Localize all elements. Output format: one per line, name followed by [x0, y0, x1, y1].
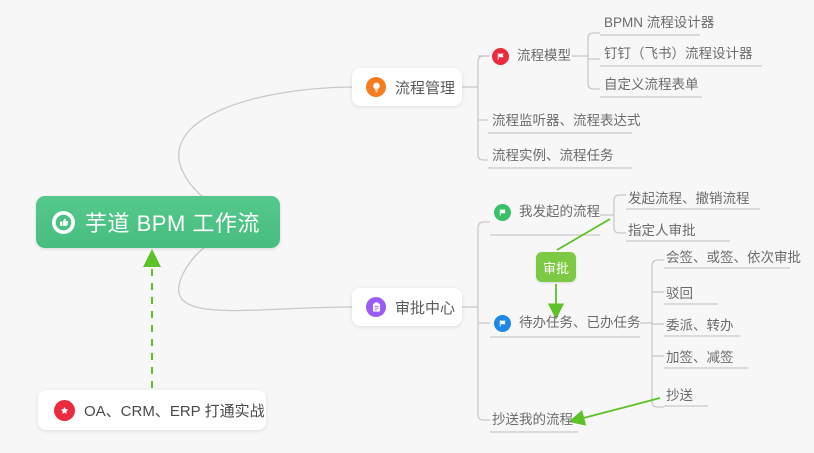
- leaf-add-remove-sign[interactable]: 加签、减签: [666, 347, 734, 369]
- root-node[interactable]: 芋道 BPM 工作流: [36, 196, 280, 248]
- leaf-label-carbon-copy: 抄送: [666, 389, 693, 403]
- leaf-label-custom-process-form: 自定义流程表单: [604, 78, 699, 92]
- leaf-cc-to-me-process[interactable]: 抄送我的流程: [492, 409, 573, 431]
- leaf-label-start-cancel-process: 发起流程、撤销流程: [628, 192, 750, 206]
- leaf-custom-process-form[interactable]: 自定义流程表单: [604, 74, 699, 96]
- leaf-start-cancel-process[interactable]: 发起流程、撤销流程: [628, 188, 750, 210]
- leaf-my-initiated-process[interactable]: 我发起的流程: [494, 201, 600, 223]
- leaf-countersign-types[interactable]: 会签、或签、依次审批: [666, 247, 801, 269]
- leaf-process-listener-expression[interactable]: 流程监听器、流程表达式: [492, 110, 641, 132]
- leaf-label-bpmn-designer: BPMN 流程设计器: [604, 16, 714, 30]
- flag-green-icon: [494, 204, 511, 221]
- flag-red-icon: [492, 48, 509, 65]
- leaf-label-dingtalk-feishu-designer: 钉钉（飞书）流程设计器: [604, 47, 753, 61]
- leaf-bpmn-designer[interactable]: BPMN 流程设计器: [604, 12, 714, 34]
- approval-badge[interactable]: 审批: [536, 252, 576, 282]
- leaf-label-process-listener-expression: 流程监听器、流程表达式: [492, 114, 641, 128]
- lightbulb-icon: [366, 77, 386, 97]
- leaf-label-process-model: 流程模型: [517, 49, 571, 63]
- flag-blue-icon: [494, 315, 511, 332]
- mindmap-canvas: 芋道 BPM 工作流 流程管理 流程模型 BPMN 流程设计器 钉钉（飞书）流程…: [0, 0, 814, 453]
- root-label: 芋道 BPM 工作流: [85, 206, 260, 238]
- leaf-label-add-remove-sign: 加签、减签: [666, 351, 734, 365]
- thumbs-up-icon: [52, 211, 75, 234]
- leaf-label-assignee-approval: 指定人审批: [628, 224, 696, 238]
- leaf-label-cc-to-me-process: 抄送我的流程: [492, 413, 573, 427]
- footer-node-label: OA、CRM、ERP 打通实战: [84, 400, 265, 421]
- leaf-label-reject: 驳回: [666, 287, 693, 301]
- leaf-process-model[interactable]: 流程模型: [492, 45, 571, 67]
- star-icon: [54, 400, 75, 421]
- leaf-delegate-transfer[interactable]: 委派、转办: [666, 315, 734, 337]
- leaf-label-process-instance-task: 流程实例、流程任务: [492, 149, 614, 163]
- leaf-dingtalk-feishu-designer[interactable]: 钉钉（飞书）流程设计器: [604, 43, 753, 65]
- leaf-reject[interactable]: 驳回: [666, 283, 693, 305]
- leaf-label-countersign-types: 会签、或签、依次审批: [666, 251, 801, 265]
- leaf-label-my-initiated-process: 我发起的流程: [519, 205, 600, 219]
- leaf-assignee-approval[interactable]: 指定人审批: [628, 220, 696, 242]
- approval-badge-label: 审批: [543, 258, 569, 277]
- clipboard-icon: [366, 297, 386, 317]
- leaf-carbon-copy[interactable]: 抄送: [666, 385, 693, 407]
- branch-label-approval-center: 审批中心: [395, 297, 455, 318]
- leaf-process-instance-task[interactable]: 流程实例、流程任务: [492, 145, 614, 167]
- leaf-todo-done-tasks[interactable]: 待办任务、已办任务: [494, 312, 641, 334]
- footer-node-integration[interactable]: OA、CRM、ERP 打通实战: [38, 390, 266, 430]
- leaf-label-todo-done-tasks: 待办任务、已办任务: [519, 316, 641, 330]
- leaf-label-delegate-transfer: 委派、转办: [666, 319, 734, 333]
- branch-node-approval-center[interactable]: 审批中心: [352, 288, 462, 326]
- branch-node-process-management[interactable]: 流程管理: [352, 68, 462, 106]
- branch-label-process-management: 流程管理: [395, 77, 455, 98]
